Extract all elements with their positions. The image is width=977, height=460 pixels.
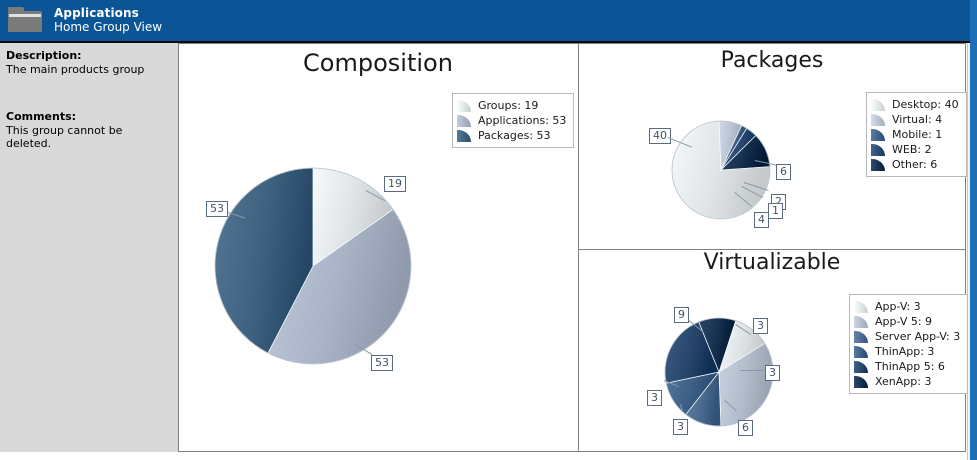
legend-item: Groups: 19 (457, 98, 566, 113)
legend-item: ThinApp: 3 (854, 344, 960, 359)
legend-swatch-icon (854, 300, 869, 313)
legend-item: Mobile: 1 (871, 127, 959, 142)
legend-swatch-icon (854, 315, 869, 328)
legend-item: Packages: 53 (457, 128, 566, 143)
legend-swatch-icon (871, 98, 886, 111)
legend-item: WEB: 2 (871, 142, 959, 157)
legend-swatch-icon (854, 360, 869, 373)
folder-icon (8, 7, 42, 33)
legend-item: Virtual: 4 (871, 112, 959, 127)
pie-value-callout: 3 (753, 318, 768, 334)
legend-item-label: Desktop: 40 (892, 98, 959, 111)
legend-item-label: ThinApp 5: 6 (875, 360, 945, 373)
pie-value-callout: 4 (754, 212, 769, 228)
legend-item-label: Virtual: 4 (892, 113, 942, 126)
pie-chart-packages (672, 121, 770, 219)
panel-vertical-divider (578, 43, 579, 452)
legend-item-label: Groups: 19 (478, 99, 538, 112)
legend-swatch-icon (854, 375, 869, 388)
legend-item: App-V: 3 (854, 299, 960, 314)
legend-item-label: Packages: 53 (478, 129, 551, 142)
chart-title-virtualizable: Virtualizable (578, 250, 966, 275)
pie-value-callout: 9 (674, 307, 689, 323)
legend-swatch-icon (871, 113, 886, 126)
legend-swatch-icon (457, 114, 472, 127)
pie-value-callout: 1 (768, 203, 783, 219)
legend-item: ThinApp 5: 6 (854, 359, 960, 374)
legend-swatch-icon (854, 345, 869, 358)
pie-value-callout: 6 (738, 420, 753, 436)
legend-item-label: Server App-V: 3 (875, 330, 960, 343)
callout-leader-line (740, 370, 766, 371)
description-value: The main products group (6, 63, 170, 76)
pie-value-callout: 6 (776, 164, 791, 180)
legend-item-label: XenApp: 3 (875, 375, 931, 388)
window-header: Applications Home Group View (0, 0, 970, 41)
legend-composition: Groups: 19Applications: 53Packages: 53 (452, 93, 574, 148)
legend-packages: Desktop: 40Virtual: 4Mobile: 1WEB: 2Othe… (866, 92, 967, 177)
chart-title-packages: Packages (578, 48, 966, 73)
description-label: Description: (6, 49, 170, 62)
legend-item: Desktop: 40 (871, 97, 959, 112)
page-subtitle: Home Group View (54, 21, 162, 34)
legend-item: Other: 6 (871, 157, 959, 172)
legend-swatch-icon (871, 128, 886, 141)
pie-value-callout: 3 (647, 390, 662, 406)
comments-label: Comments: (6, 110, 170, 123)
pie-value-callout: 19 (384, 176, 406, 192)
pie-value-callout: 3 (673, 419, 688, 435)
pie-value-callout: 3 (765, 365, 780, 381)
pie-value-callout: 53 (371, 355, 393, 371)
legend-item-label: Mobile: 1 (892, 128, 942, 141)
pie-value-callout: 53 (206, 201, 228, 217)
page-title: Applications (54, 7, 162, 20)
legend-item-label: WEB: 2 (892, 143, 932, 156)
legend-swatch-icon (871, 143, 886, 156)
legend-virtualizable: App-V: 3App-V 5: 9Server App-V: 3ThinApp… (849, 294, 968, 394)
legend-item-label: Other: 6 (892, 158, 937, 171)
legend-item: Server App-V: 3 (854, 329, 960, 344)
legend-item: App-V 5: 9 (854, 314, 960, 329)
legend-swatch-icon (457, 129, 472, 142)
legend-swatch-icon (854, 330, 869, 343)
comments-value: This group cannot be deleted. (6, 124, 170, 150)
legend-item-label: ThinApp: 3 (875, 345, 934, 358)
legend-item: XenApp: 3 (854, 374, 960, 389)
legend-swatch-icon (457, 99, 472, 112)
legend-item-label: App-V: 3 (875, 300, 921, 313)
legend-item-label: App-V 5: 9 (875, 315, 932, 328)
right-edge-strip (970, 0, 977, 460)
chart-title-composition: Composition (178, 49, 578, 77)
application-window: Applications Home Group View Description… (0, 0, 977, 460)
legend-item-label: Applications: 53 (478, 114, 566, 127)
legend-swatch-icon (871, 158, 886, 171)
legend-item: Applications: 53 (457, 113, 566, 128)
info-sidebar: Description: The main products group Com… (0, 43, 178, 452)
